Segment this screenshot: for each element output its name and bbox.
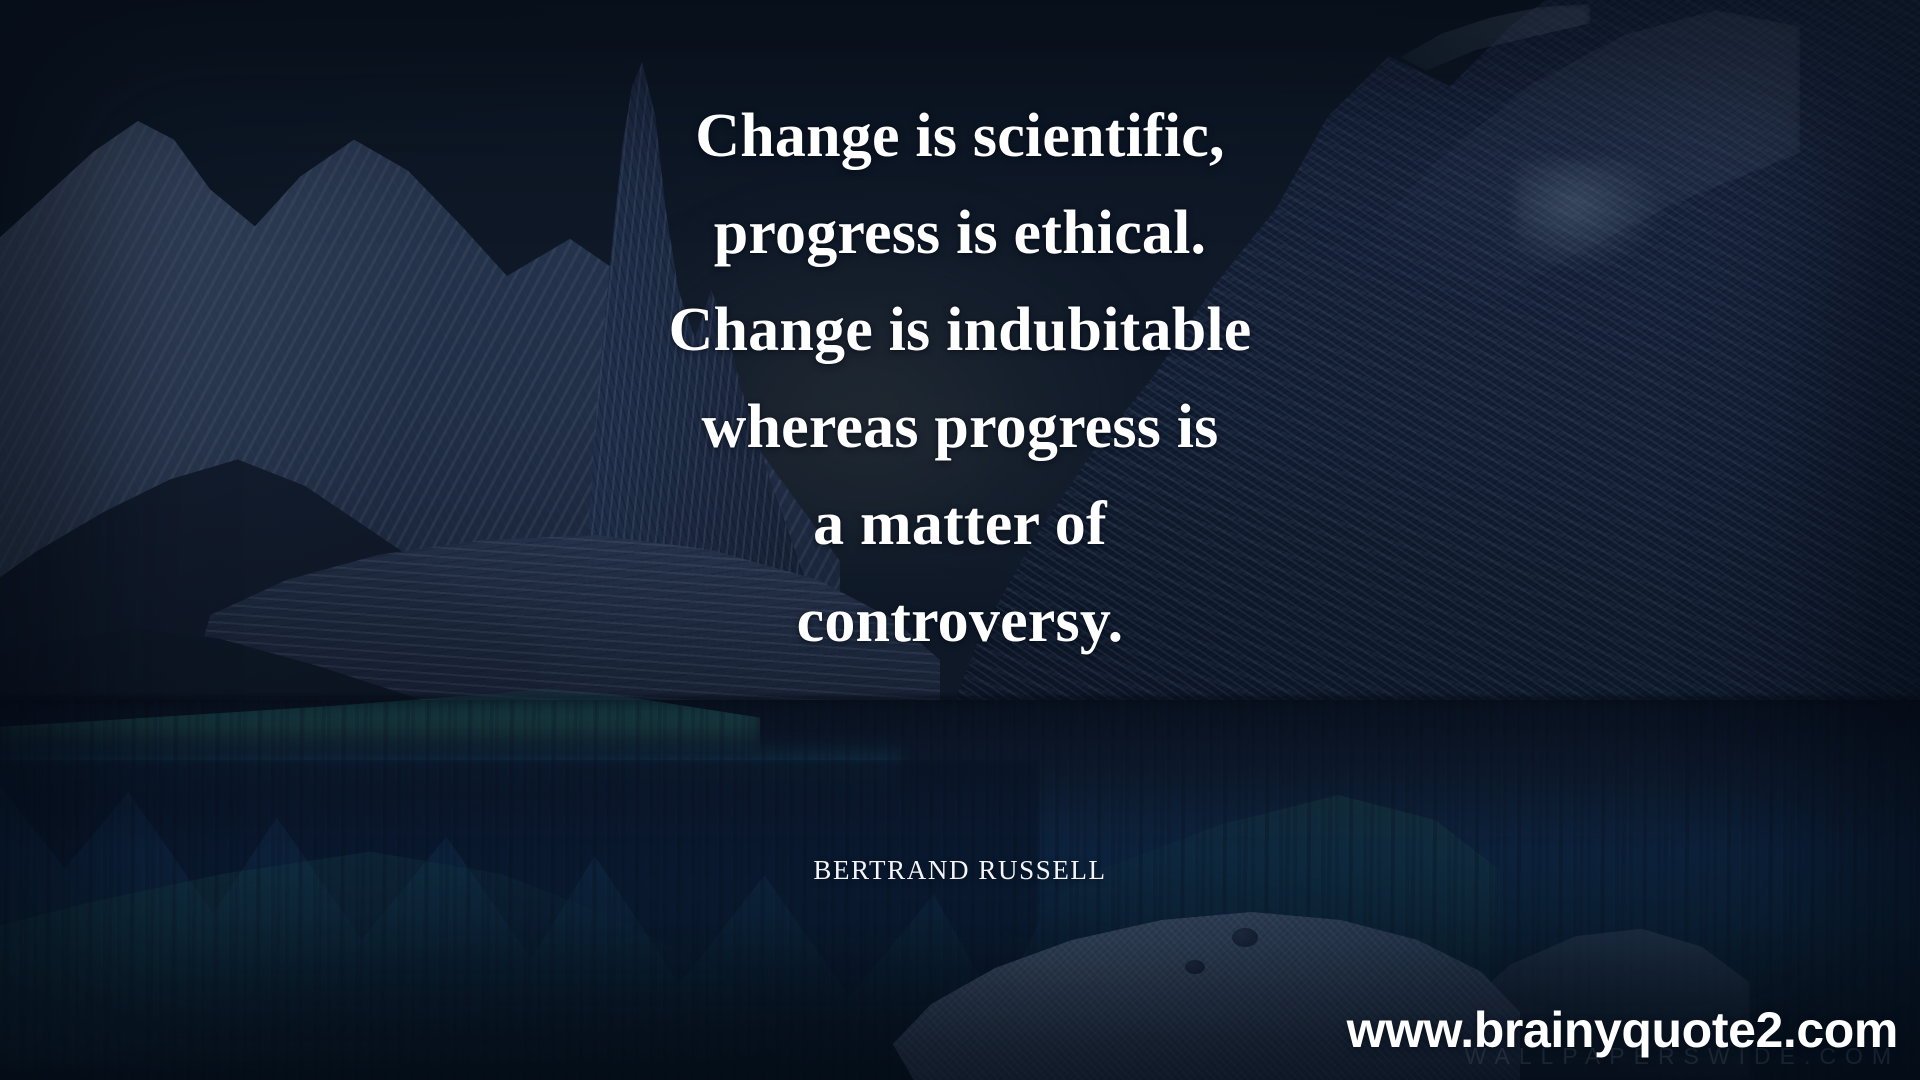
quote-block: Change is scientific, progress is ethica… bbox=[0, 88, 1920, 670]
quote-line: whereas progress is bbox=[0, 379, 1920, 476]
site-url-watermark: www.brainyquote2.com bbox=[1347, 1001, 1898, 1059]
quote-wallpaper-canvas: WALLPAPERSWIDE.COM Change is scientific,… bbox=[0, 0, 1920, 1080]
quote-line: Change is scientific, bbox=[0, 88, 1920, 185]
quote-line: Change is indubitable bbox=[0, 282, 1920, 379]
quote-line: progress is ethical. bbox=[0, 185, 1920, 282]
quote-line: a matter of bbox=[0, 476, 1920, 573]
quote-line: controversy. bbox=[0, 573, 1920, 670]
quote-author-attribution: BERTRAND RUSSELL bbox=[0, 855, 1920, 886]
overlay-content: Change is scientific, progress is ethica… bbox=[0, 0, 1920, 1080]
